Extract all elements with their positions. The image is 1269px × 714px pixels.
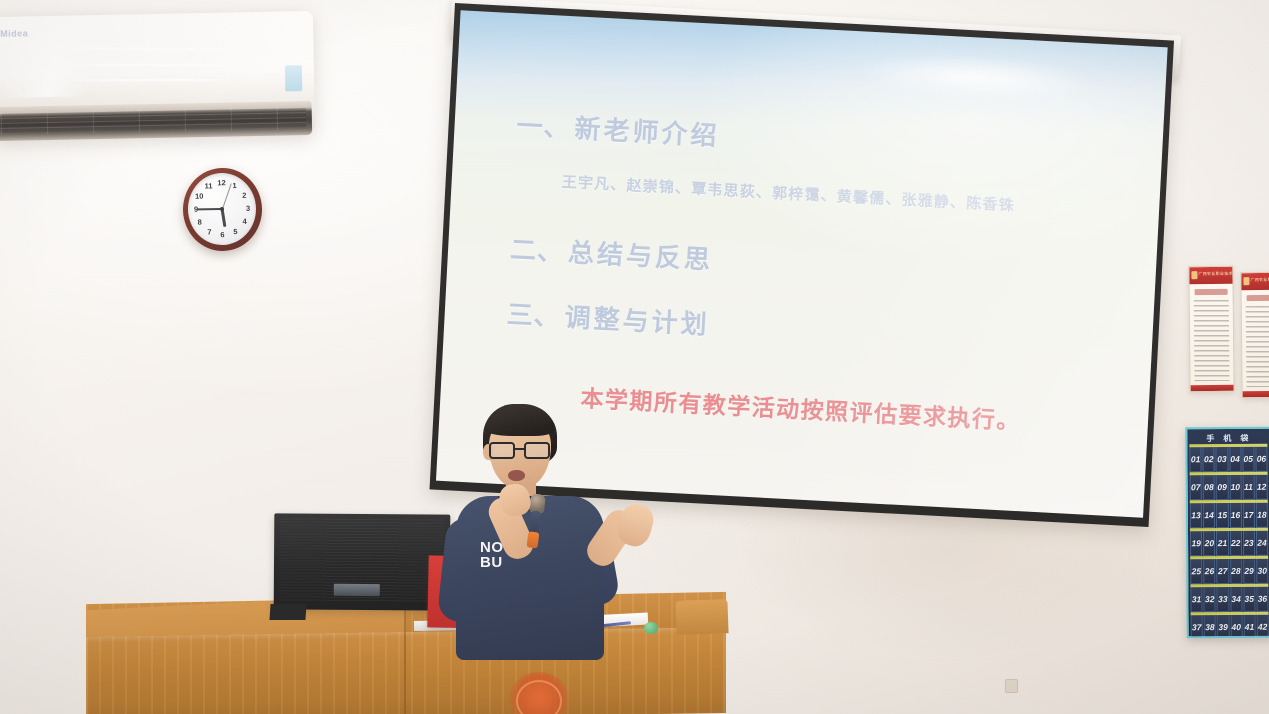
presenter-person: NO BU — [440, 400, 690, 660]
slide-heading-3-label: 调整与计划 — [564, 302, 710, 340]
slide-heading-1-label: 新老师介绍 — [574, 113, 720, 151]
poster-right-body-text — [1246, 306, 1269, 387]
phone-pocket-chart: 手机袋 010203040506070809101112131415161718… — [1185, 427, 1269, 639]
pocket-chart-cell[interactable]: 16 — [1229, 502, 1241, 528]
clock-minute-hand — [197, 208, 222, 210]
pocket-chart-cell[interactable]: 13 — [1190, 502, 1202, 528]
clock-numeral: 1 — [232, 182, 236, 190]
clock-numeral: 11 — [205, 183, 213, 191]
pocket-chart-cell[interactable]: 15 — [1216, 502, 1228, 528]
air-conditioner-energy-sticker — [285, 65, 302, 91]
clock-numeral: 5 — [233, 228, 237, 236]
pocket-chart-cell[interactable]: 06 — [1255, 446, 1267, 472]
pocket-chart-cell[interactable]: 30 — [1256, 558, 1268, 584]
poster-left-emblem-icon — [1191, 271, 1197, 279]
clock-numeral: 10 — [195, 193, 203, 201]
pocket-chart-row: 373839404142 — [1191, 614, 1269, 639]
pocket-chart-cell[interactable]: 03 — [1216, 446, 1228, 472]
pocket-chart-cell[interactable]: 07 — [1190, 474, 1202, 500]
presenter-glasses-lens-right — [524, 442, 550, 459]
clock-numeral: 12 — [217, 179, 225, 187]
clock-numeral: 7 — [207, 228, 211, 236]
wall-poster-right: 广西农业职业技术大学 — [1240, 272, 1269, 398]
air-conditioner: Midea — [0, 11, 315, 139]
pocket-chart-row: 131415161718 — [1190, 502, 1268, 529]
pocket-chart-cell[interactable]: 36 — [1256, 586, 1268, 612]
poster-right-title — [1247, 295, 1269, 301]
air-conditioner-vent — [0, 101, 312, 141]
pocket-chart-cell[interactable]: 10 — [1229, 474, 1241, 500]
pocket-chart-cell[interactable]: 17 — [1242, 502, 1254, 528]
pocket-chart-cell[interactable]: 28 — [1230, 558, 1242, 584]
pocket-chart-cell[interactable]: 20 — [1203, 530, 1215, 556]
pocket-chart-cell[interactable]: 18 — [1256, 502, 1268, 528]
pocket-chart-cell[interactable]: 04 — [1229, 446, 1241, 472]
pocket-chart-header-char: 机 — [1223, 433, 1233, 444]
pocket-chart-cell[interactable]: 39 — [1217, 614, 1229, 638]
pocket-chart-cell[interactable]: 41 — [1243, 614, 1255, 638]
pocket-chart-cell[interactable]: 11 — [1242, 474, 1254, 500]
clock-center-pin — [220, 207, 224, 211]
pocket-chart-row: 070809101112 — [1190, 474, 1268, 501]
classroom-photo-scene: Midea 111098765432112 一、新老师介绍 王宇凡、赵崇锦、覃韦… — [0, 0, 1269, 714]
pocket-chart-cell[interactable]: 35 — [1243, 586, 1255, 612]
wall-poster-left: 广西农业职业技术大学 — [1188, 266, 1234, 392]
pocket-chart-cell[interactable]: 37 — [1191, 614, 1203, 638]
poster-right-footer-bar — [1243, 391, 1269, 397]
pocket-chart-header-char: 袋 — [1240, 433, 1250, 444]
pocket-chart-cell[interactable]: 01 — [1189, 446, 1201, 472]
pocket-chart-cell[interactable]: 21 — [1216, 530, 1228, 556]
pocket-chart-cell[interactable]: 02 — [1203, 446, 1215, 472]
pocket-chart-cell[interactable]: 14 — [1203, 502, 1215, 528]
pocket-chart-row: 010203040506 — [1189, 446, 1267, 473]
pocket-chart-cell[interactable]: 31 — [1190, 586, 1202, 612]
pocket-chart-row: 192021222324 — [1190, 530, 1268, 557]
clock-numeral: 2 — [242, 192, 246, 200]
slide-heading-2-label: 总结与反思 — [567, 237, 713, 275]
podium-panel-seam — [404, 600, 406, 714]
pocket-chart-cell[interactable]: 19 — [1190, 530, 1202, 556]
monitor-stand — [269, 604, 306, 620]
presenter-glasses — [487, 442, 553, 459]
pocket-chart-cell[interactable]: 08 — [1203, 474, 1215, 500]
slide-heading-1: 一、新老师介绍 — [516, 105, 1137, 174]
clock-numeral: 4 — [243, 218, 247, 226]
pocket-chart-row: 313233343536 — [1190, 586, 1268, 613]
pocket-chart-header-char: 手 — [1206, 433, 1216, 444]
poster-left-header-bar: 广西农业职业技术大学 — [1189, 267, 1232, 284]
computer-monitor-rear — [274, 513, 451, 610]
pocket-chart-row: 252627282930 — [1190, 558, 1268, 585]
wall-power-outlet — [1005, 679, 1018, 693]
pocket-chart-cell[interactable]: 33 — [1217, 586, 1229, 612]
pocket-chart-cell[interactable]: 12 — [1255, 474, 1267, 500]
pocket-chart-cell[interactable]: 29 — [1243, 558, 1255, 584]
pocket-chart-cell[interactable]: 05 — [1242, 446, 1254, 472]
poster-left-body-text — [1194, 300, 1230, 381]
clock-face: 111098765432112 — [187, 172, 256, 245]
pocket-chart-cell[interactable]: 24 — [1256, 530, 1268, 556]
clock-hour-hand — [221, 209, 226, 227]
poster-left-footer-bar — [1191, 385, 1234, 391]
slide-heading-1-number: 一、 — [516, 110, 572, 143]
clock-numeral: 8 — [198, 219, 202, 227]
poster-right-header-bar: 广西农业职业技术大学 — [1241, 273, 1269, 290]
slide-heading-3-number: 三、 — [506, 299, 562, 332]
presenter-mouth — [508, 470, 525, 481]
clock-numeral: 6 — [220, 231, 224, 239]
pocket-chart-cell[interactable]: 32 — [1204, 586, 1216, 612]
pocket-chart-cell[interactable]: 42 — [1256, 614, 1268, 639]
presenter-glasses-lens-left — [489, 442, 515, 459]
monitor-model-badge — [334, 584, 380, 596]
pocket-chart-cell[interactable]: 25 — [1190, 558, 1202, 584]
poster-left-title — [1195, 289, 1228, 295]
air-conditioner-gloss — [0, 11, 314, 98]
pocket-chart-cell[interactable]: 26 — [1203, 558, 1215, 584]
slide-heading-2-number: 二、 — [509, 234, 565, 267]
poster-left-header-text: 广西农业职业技术大学 — [1198, 271, 1234, 277]
pocket-chart-cell[interactable]: 34 — [1230, 586, 1242, 612]
pocket-chart-cell[interactable]: 27 — [1217, 558, 1229, 584]
phone-pocket-chart-rows: 0102030405060708091011121314151617181920… — [1189, 446, 1268, 639]
air-conditioner-brand-label: Midea — [0, 28, 28, 39]
presenter-glasses-bridge — [515, 448, 525, 450]
microphone-grip — [527, 531, 540, 548]
clock-numeral: 3 — [246, 205, 250, 213]
pocket-chart-cell[interactable]: 09 — [1216, 474, 1228, 500]
poster-right-emblem-icon — [1243, 277, 1249, 285]
pocket-chart-cell[interactable]: 23 — [1243, 530, 1255, 556]
pocket-chart-cell[interactable]: 40 — [1230, 614, 1242, 638]
pocket-chart-cell[interactable]: 22 — [1229, 530, 1241, 556]
poster-right-header-text: 广西农业职业技术大学 — [1250, 277, 1269, 283]
pocket-chart-cell[interactable]: 38 — [1204, 614, 1216, 638]
